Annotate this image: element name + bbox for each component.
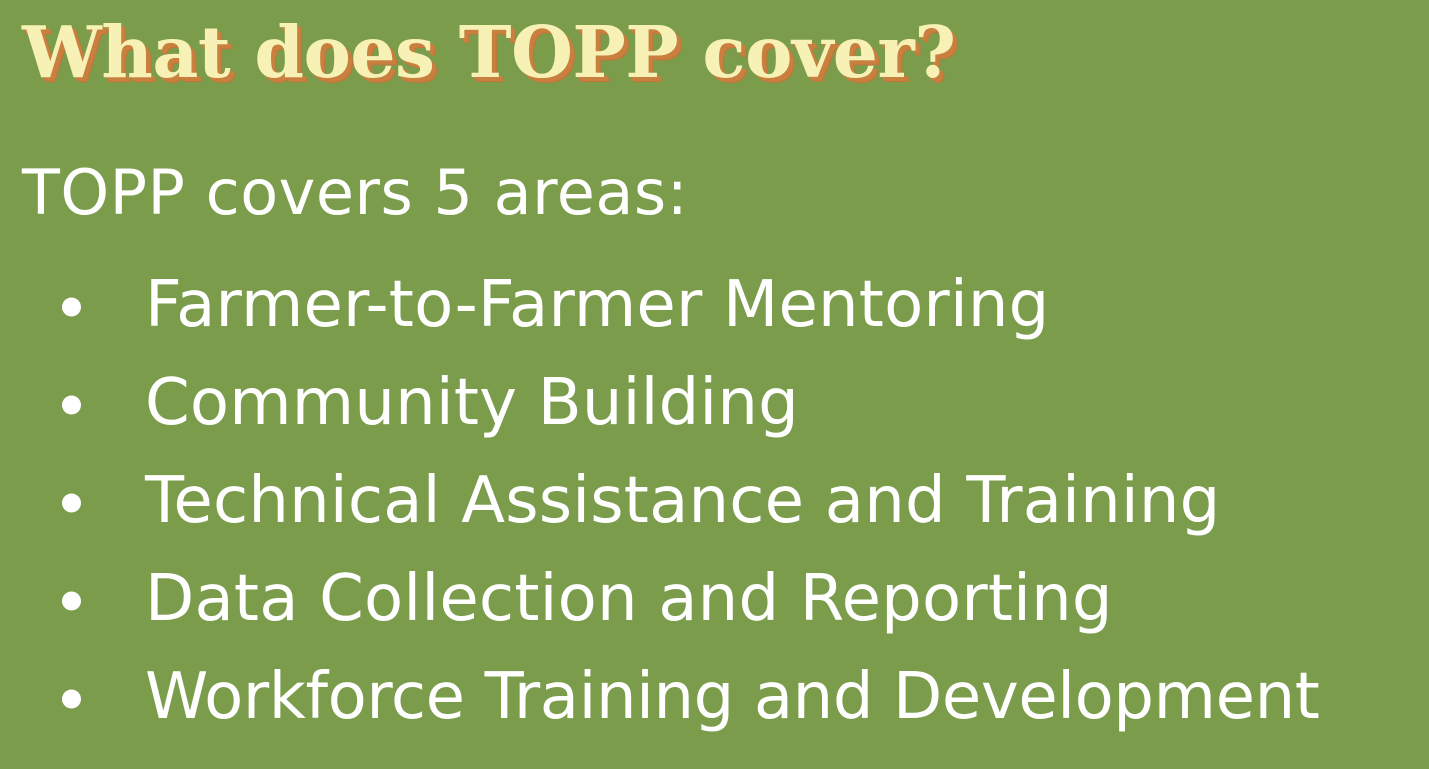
- list-item: Farmer-to-Farmer Mentoring: [0, 258, 1429, 356]
- bullet-dot-icon: [62, 298, 81, 317]
- list-item: Data Collection and Reporting: [0, 552, 1429, 650]
- bullet-dot-icon: [62, 494, 81, 513]
- list-item-label: Farmer-to-Farmer Mentoring: [145, 273, 1050, 337]
- list-item: Technical Assistance and Training: [0, 454, 1429, 552]
- bullet-dot-icon: [62, 592, 81, 611]
- intro-text: TOPP covers 5 areas:: [22, 160, 688, 227]
- list-item-label: Workforce Training and Development: [145, 665, 1319, 729]
- bullet-dot-icon: [62, 690, 81, 709]
- list-item-label: Community Building: [145, 371, 799, 435]
- bullet-dot-icon: [62, 396, 81, 415]
- slide-title: What does TOPP cover?: [22, 17, 955, 88]
- coverage-areas-list: Farmer-to-Farmer Mentoring Community Bui…: [0, 258, 1429, 748]
- list-item: Community Building: [0, 356, 1429, 454]
- presentation-slide: What does TOPP cover? TOPP covers 5 area…: [0, 0, 1429, 769]
- list-item: Workforce Training and Development: [0, 650, 1429, 748]
- list-item-label: Technical Assistance and Training: [145, 469, 1220, 533]
- list-item-label: Data Collection and Reporting: [145, 567, 1113, 631]
